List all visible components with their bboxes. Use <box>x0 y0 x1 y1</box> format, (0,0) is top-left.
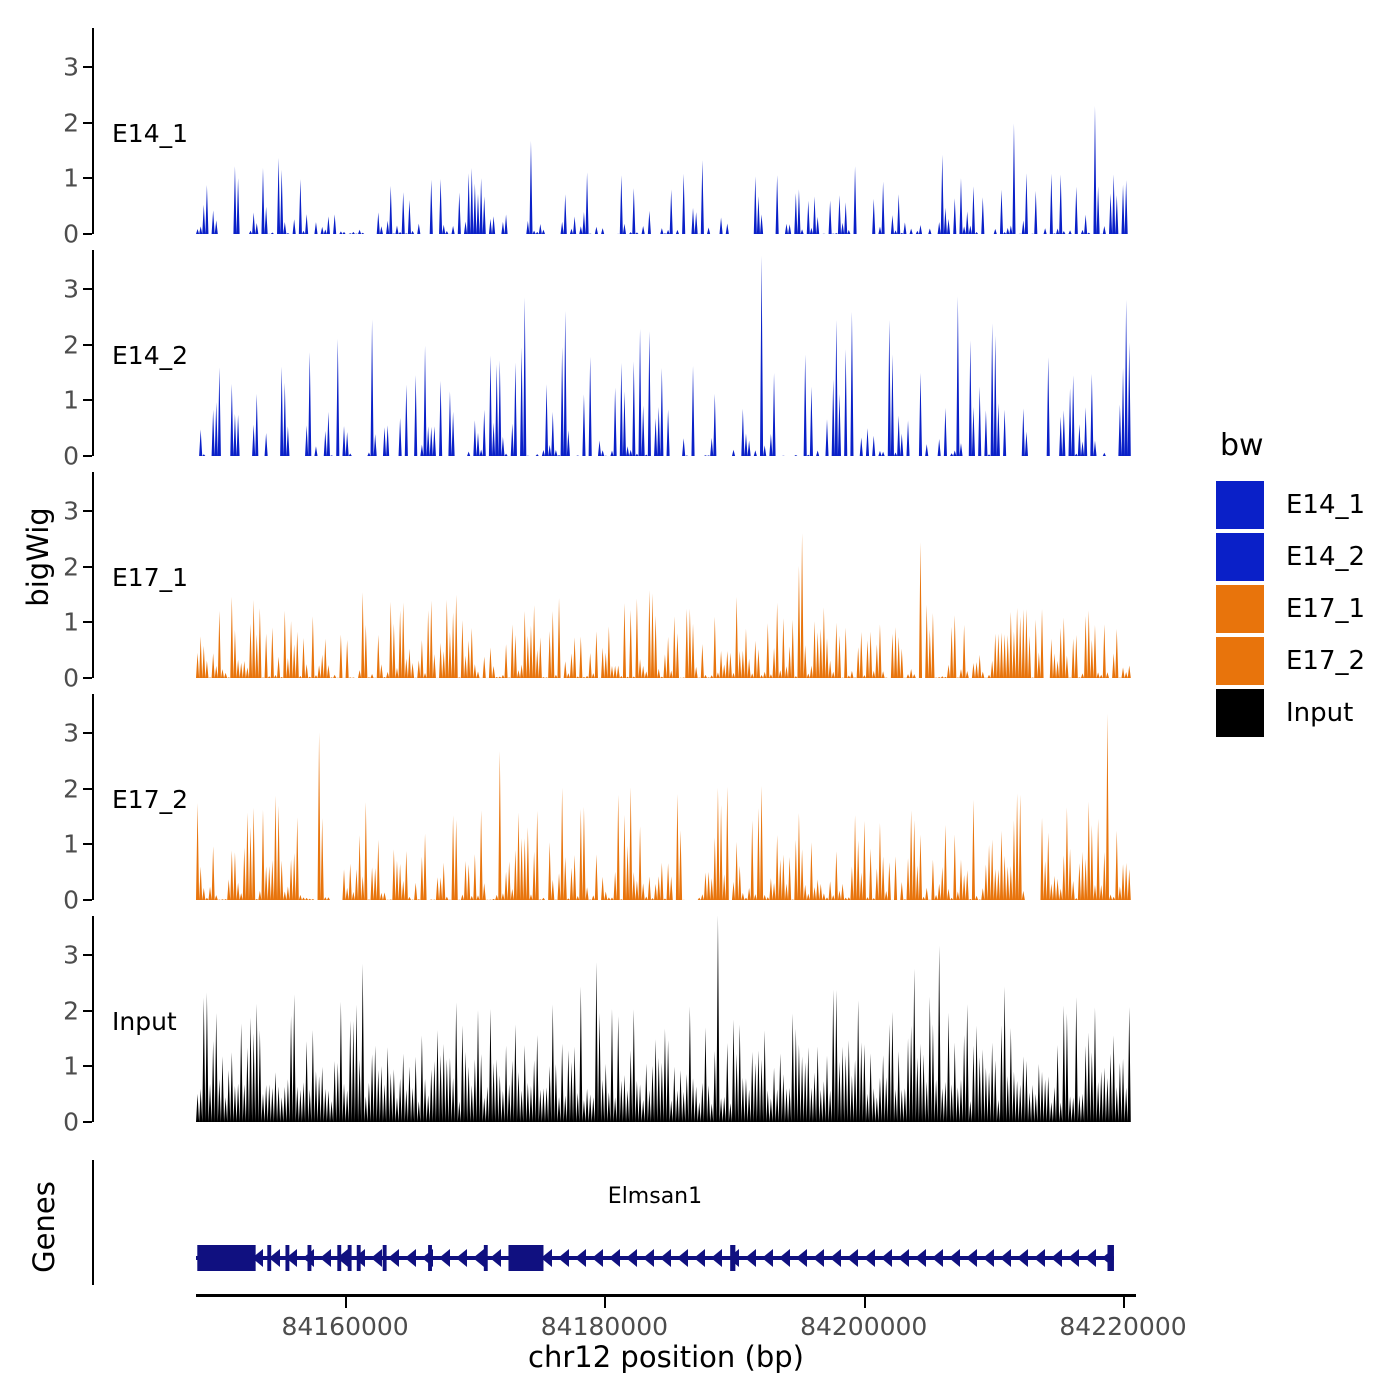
plot-area-e14_1 <box>196 28 1136 234</box>
x-tick-label: 84180000 <box>541 1312 668 1341</box>
y-tick-label: 0 <box>63 888 79 913</box>
gene-strand-arrow-icon <box>881 1249 892 1267</box>
legend-label: E14_1 <box>1286 490 1365 520</box>
track-panel-e17_1: 0123E17_1 <box>92 472 1136 678</box>
coverage-profile-input <box>196 916 1136 1122</box>
y-tick-label: 0 <box>63 666 79 691</box>
track-name-e17_1: E17_1 <box>112 563 188 592</box>
plot-area-input <box>196 916 1136 1122</box>
gene-strand-arrow-icon <box>660 1249 671 1267</box>
y-axis-line-e17_2 <box>92 694 94 900</box>
legend-item-input[interactable]: Input <box>1216 689 1365 737</box>
gene-strand-arrow-icon <box>1068 1249 1079 1267</box>
coverage-profile-e17_2 <box>196 694 1136 900</box>
x-tick-label: 84200000 <box>800 1312 927 1341</box>
legend-swatch-e14_2 <box>1216 533 1264 581</box>
legend-label: Input <box>1286 698 1353 728</box>
y-tick <box>83 732 92 734</box>
legend-label: E14_2 <box>1286 542 1365 572</box>
gene-strand-arrow-icon <box>388 1249 399 1267</box>
gene-label: Elmsan1 <box>535 1184 775 1209</box>
y-tick <box>83 455 92 457</box>
gene-exon <box>484 1245 488 1271</box>
gene-exon <box>428 1245 432 1271</box>
gene-strand-arrow-icon <box>864 1249 875 1267</box>
track-panel-input: 0123Input <box>92 916 1136 1122</box>
track-name-e14_1: E14_1 <box>112 119 188 148</box>
gene-strand-arrow-icon <box>626 1249 637 1267</box>
x-tick <box>604 1297 606 1308</box>
gene-strand-arrow-icon <box>456 1249 467 1267</box>
gene-strand-arrow-icon <box>558 1249 569 1267</box>
y-tick <box>83 233 92 235</box>
y-tick <box>83 621 92 623</box>
track-name-e14_2: E14_2 <box>112 341 188 370</box>
y-tick <box>83 1121 92 1123</box>
y-tick <box>83 677 92 679</box>
y-tick-label: 1 <box>63 610 79 635</box>
gene-exon <box>508 1245 543 1271</box>
gene-strand-arrow-icon <box>1017 1249 1028 1267</box>
x-tick-label: 84220000 <box>1059 1312 1186 1341</box>
y-tick <box>83 177 92 179</box>
gene-strand-arrow-icon <box>949 1249 960 1267</box>
track-panel-e14_2: 0123E14_2 <box>92 250 1136 456</box>
gene-strand-arrow-icon <box>932 1249 943 1267</box>
y-tick-label: 0 <box>63 222 79 247</box>
y-tick-label: 1 <box>63 388 79 413</box>
coverage-profile-e14_2 <box>196 250 1136 456</box>
gene-strand-arrow-icon <box>592 1249 603 1267</box>
y-axis-line-e14_1 <box>92 28 94 234</box>
x-axis-line <box>196 1294 1136 1297</box>
gene-exon <box>357 1245 361 1271</box>
gene-strand-arrow-icon <box>575 1249 586 1267</box>
y-tick <box>83 954 92 956</box>
y-tick-label: 2 <box>63 110 79 135</box>
y-tick-label: 2 <box>63 554 79 579</box>
gene-strand-arrow-icon <box>609 1249 620 1267</box>
track-panel-e17_2: 0123E17_2 <box>92 694 1136 900</box>
plot-area-e17_2 <box>196 694 1136 900</box>
gene-exon <box>383 1245 387 1271</box>
y-tick <box>83 510 92 512</box>
track-name-e17_2: E17_2 <box>112 785 188 814</box>
x-tick <box>345 1297 347 1308</box>
coverage-profile-e14_1 <box>196 28 1136 234</box>
legend-swatch-e17_1 <box>1216 585 1264 633</box>
gene-exon <box>337 1245 341 1271</box>
legend-item-e14_1[interactable]: E14_1 <box>1216 481 1365 529</box>
y-tick-label: 1 <box>63 166 79 191</box>
gene-strand-arrow-icon <box>371 1249 382 1267</box>
gene-strand-arrow-icon <box>490 1249 501 1267</box>
y-axis-title: bigWig <box>21 497 55 617</box>
gene-strand-arrow-icon <box>1034 1249 1045 1267</box>
y-tick <box>83 66 92 68</box>
y-tick <box>83 843 92 845</box>
x-tick <box>864 1297 866 1308</box>
gene-strand-arrow-icon <box>966 1249 977 1267</box>
y-tick-label: 3 <box>63 942 79 967</box>
gene-strand-arrow-icon <box>745 1249 756 1267</box>
legend-swatch-e14_1 <box>1216 481 1264 529</box>
y-tick-label: 0 <box>63 1110 79 1135</box>
y-tick <box>83 344 92 346</box>
y-tick-label: 3 <box>63 720 79 745</box>
y-axis-line-input <box>92 916 94 1122</box>
y-tick <box>83 288 92 290</box>
gene-strand-arrow-icon <box>1085 1249 1096 1267</box>
y-tick-label: 2 <box>63 998 79 1023</box>
gene-strand-arrow-icon <box>830 1249 841 1267</box>
x-tick <box>1123 1297 1125 1308</box>
gene-strand-arrow-icon <box>847 1249 858 1267</box>
legend-item-e17_1[interactable]: E17_1 <box>1216 585 1365 633</box>
gene-exon <box>197 1245 255 1271</box>
y-tick <box>83 1010 92 1012</box>
gene-strand-arrow-icon <box>915 1249 926 1267</box>
legend-swatch-e17_2 <box>1216 637 1264 685</box>
legend-item-e17_2[interactable]: E17_2 <box>1216 637 1365 685</box>
y-tick <box>83 566 92 568</box>
y-tick-label: 3 <box>63 498 79 523</box>
gene-strand-arrow-icon <box>711 1249 722 1267</box>
track-panel-e14_1: 0123E14_1 <box>92 28 1136 234</box>
gene-model <box>94 1160 1132 1285</box>
y-tick-label: 1 <box>63 1054 79 1079</box>
gene-strand-arrow-icon <box>677 1249 688 1267</box>
legend-label: E17_2 <box>1286 646 1365 676</box>
y-tick-label: 3 <box>63 276 79 301</box>
y-tick <box>83 1065 92 1067</box>
gene-strand-arrow-icon <box>473 1249 484 1267</box>
gene-exon <box>1107 1245 1113 1271</box>
y-tick-label: 2 <box>63 332 79 357</box>
gene-strand-arrow-icon <box>1000 1249 1011 1267</box>
legend-title: bw <box>1220 428 1365 463</box>
x-axis-title: chr12 position (bp) <box>196 1340 1136 1374</box>
gene-strand-arrow-icon <box>643 1249 654 1267</box>
gene-plot-area: Elmsan1 <box>94 1160 1132 1285</box>
gene-strand-arrow-icon <box>796 1249 807 1267</box>
gene-panel: Elmsan1 <box>92 1160 1132 1285</box>
gene-strand-arrow-icon <box>405 1249 416 1267</box>
genes-row-title: Genes <box>27 1167 61 1287</box>
legend-items: E14_1E14_2E17_1E17_2Input <box>1216 481 1365 737</box>
gene-exon <box>267 1245 271 1271</box>
gene-strand-arrow-icon <box>898 1249 909 1267</box>
plot-area-e14_2 <box>196 250 1136 456</box>
gene-exon <box>285 1245 289 1271</box>
gene-strand-arrow-icon <box>439 1249 450 1267</box>
y-tick <box>83 122 92 124</box>
gene-exon <box>730 1245 735 1271</box>
legend-swatch-input <box>1216 689 1264 737</box>
gene-strand-arrow-icon <box>694 1249 705 1267</box>
x-tick-label: 84160000 <box>281 1312 408 1341</box>
legend-item-e14_2[interactable]: E14_2 <box>1216 533 1365 581</box>
gene-exon <box>308 1245 312 1271</box>
gene-strand-arrow-icon <box>320 1249 331 1267</box>
y-tick <box>83 788 92 790</box>
y-tick <box>83 899 92 901</box>
y-tick-label: 3 <box>63 54 79 79</box>
legend-label: E17_1 <box>1286 594 1365 624</box>
gene-strand-arrow-icon <box>762 1249 773 1267</box>
gene-exon <box>348 1245 352 1271</box>
gene-strand-arrow-icon <box>813 1249 824 1267</box>
y-tick-label: 2 <box>63 776 79 801</box>
gene-strand-arrow-icon <box>1051 1249 1062 1267</box>
y-tick-label: 0 <box>63 444 79 469</box>
y-axis-line-e17_1 <box>92 472 94 678</box>
legend: bw E14_1E14_2E17_1E17_2Input <box>1216 428 1365 741</box>
y-axis-line-e14_2 <box>92 250 94 456</box>
track-name-input: Input <box>112 1007 177 1036</box>
gene-strand-arrow-icon <box>779 1249 790 1267</box>
gene-strand-arrow-icon <box>983 1249 994 1267</box>
coverage-profile-e17_1 <box>196 472 1136 678</box>
y-tick-label: 1 <box>63 832 79 857</box>
y-tick <box>83 399 92 401</box>
plot-area-e17_1 <box>196 472 1136 678</box>
